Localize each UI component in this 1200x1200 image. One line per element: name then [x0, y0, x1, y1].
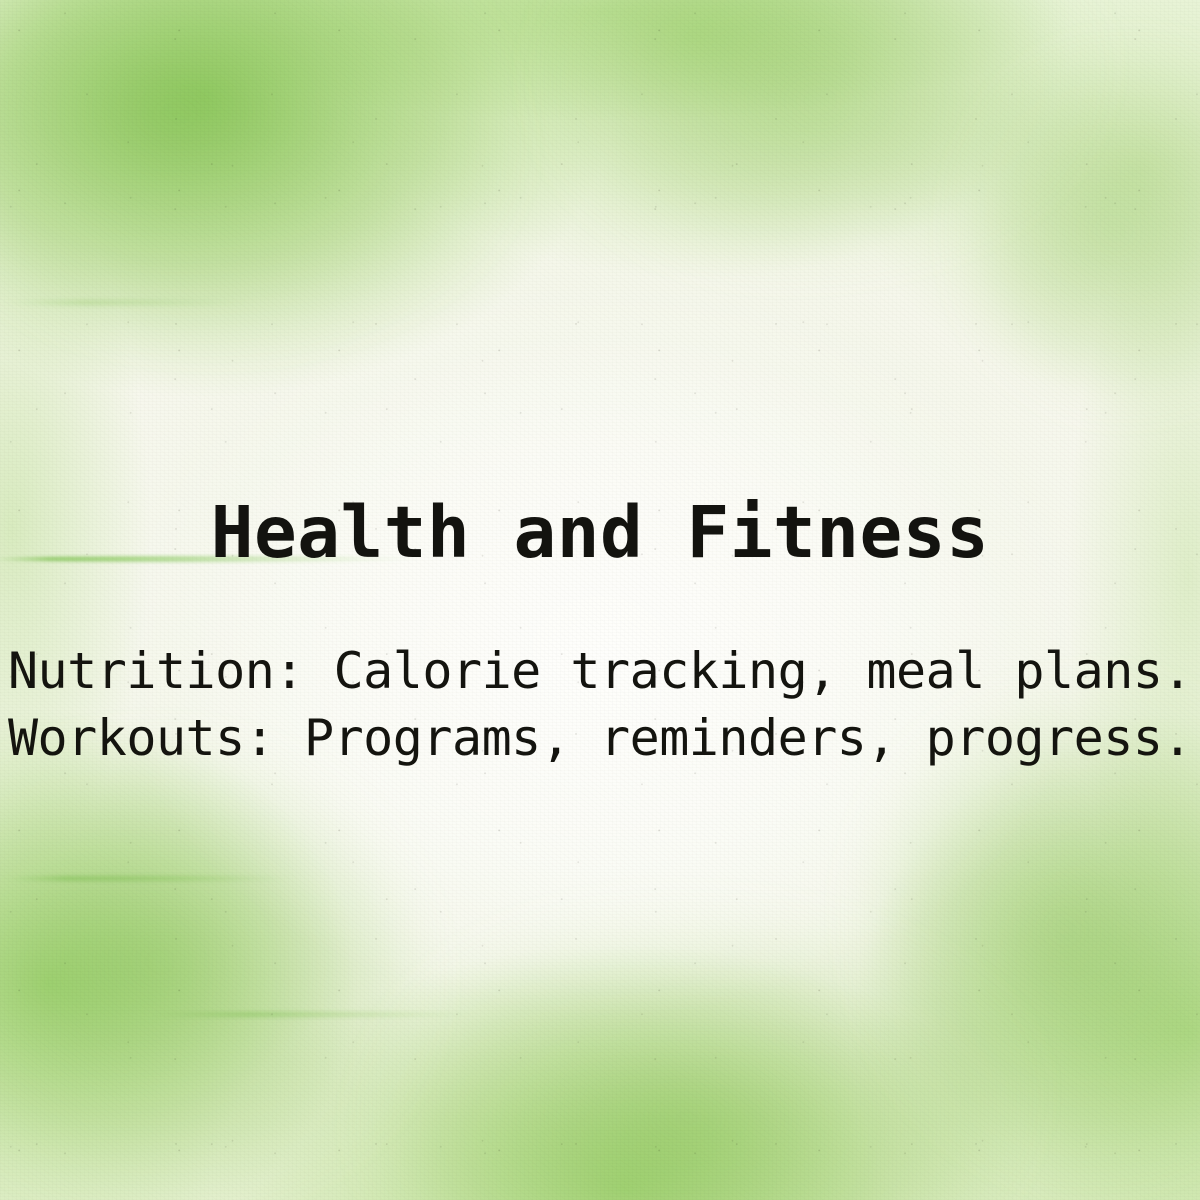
watercolor-edge-streak-left-lower	[0, 876, 300, 881]
page-title: Health and Fitness	[0, 496, 1200, 570]
watercolor-edge-streak-bottom	[150, 1012, 480, 1017]
watercolor-blob-top-center	[560, 0, 1080, 240]
watercolor-blob-bottom-left	[0, 760, 410, 1180]
poster-canvas: Health and Fitness Nutrition: Calorie tr…	[0, 0, 1200, 1200]
body-line-nutrition: Nutrition: Calorie tracking, meal plans.	[0, 638, 1200, 705]
watercolor-edge-streak-left-mid	[0, 556, 420, 562]
watercolor-wash-sides	[0, 0, 1200, 1200]
paper-grain-texture	[0, 0, 1200, 1200]
paper-speckle-texture	[0, 0, 1200, 1200]
paper-base-layer	[0, 0, 1200, 1200]
center-highlight-vignette	[0, 0, 1200, 1200]
watercolor-wash-top	[0, 0, 1200, 1200]
watercolor-blob-bottom-center	[390, 930, 1010, 1200]
watercolor-blob-top-left	[0, 0, 500, 330]
body-line-workouts: Workouts: Programs, reminders, progress.	[0, 705, 1200, 772]
watercolor-edge-streak-left-upper	[0, 300, 250, 305]
watercolor-blob-top-right	[980, 60, 1200, 390]
watercolor-wash-bottom	[0, 0, 1200, 1200]
watercolor-blob-bottom-right	[880, 700, 1200, 1160]
text-block: Health and Fitness Nutrition: Calorie tr…	[0, 0, 1200, 1200]
poster-body: Nutrition: Calorie tracking, meal plans.…	[0, 638, 1200, 772]
